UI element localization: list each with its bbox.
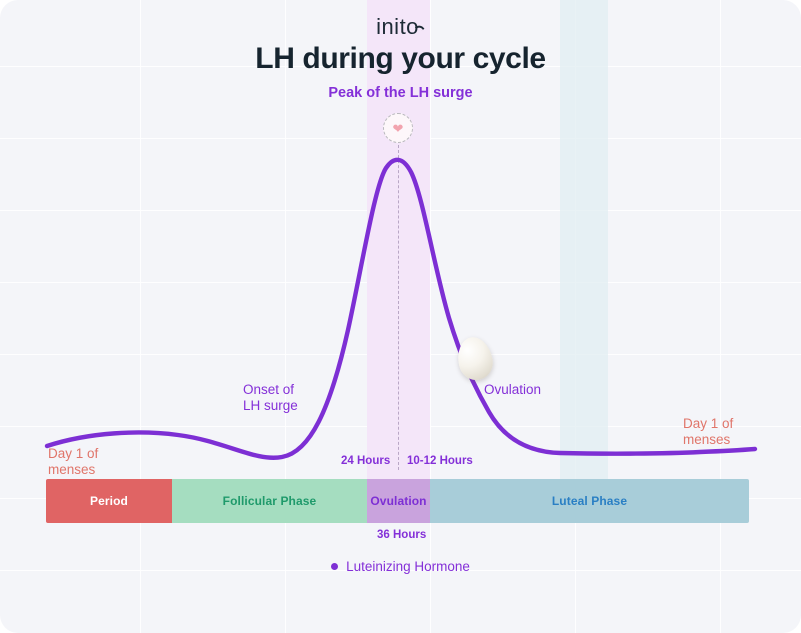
phase-luteal[interactable]: Luteal Phase <box>430 479 749 523</box>
phase-period[interactable]: Period <box>46 479 172 523</box>
annotation-onset-line1: Onset of <box>243 382 298 398</box>
label-10-12-hours: 10-12 Hours <box>407 455 473 467</box>
annotation-day1-menses-left: Day 1 of menses <box>48 446 98 477</box>
annotation-day1-left-line2: menses <box>48 462 98 478</box>
annotation-onset-lh-surge: Onset of LH surge <box>243 382 298 413</box>
label-24-hours: 24 Hours <box>341 455 390 467</box>
phase-bar: Period Follicular Phase Ovulation Luteal… <box>46 479 749 523</box>
annotation-day1-right-line2: menses <box>683 432 733 448</box>
phase-ovulation[interactable]: Ovulation <box>367 479 430 523</box>
annotation-day1-right-line1: Day 1 of <box>683 416 733 432</box>
annotation-onset-line2: LH surge <box>243 398 298 414</box>
annotation-day1-left-line1: Day 1 of <box>48 446 98 462</box>
annotation-day1-menses-right: Day 1 of menses <box>683 416 733 447</box>
chart-card: inito LH during your cycle Peak of the L… <box>0 0 801 633</box>
label-36-hours: 36 Hours <box>377 529 426 541</box>
annotation-ovulation: Ovulation <box>484 382 541 398</box>
chart-legend: Luteinizing Hormone <box>0 559 801 574</box>
legend-marker-icon <box>331 563 338 570</box>
phase-follicular[interactable]: Follicular Phase <box>172 479 367 523</box>
legend-label-luteinizing-hormone: Luteinizing Hormone <box>346 559 470 574</box>
